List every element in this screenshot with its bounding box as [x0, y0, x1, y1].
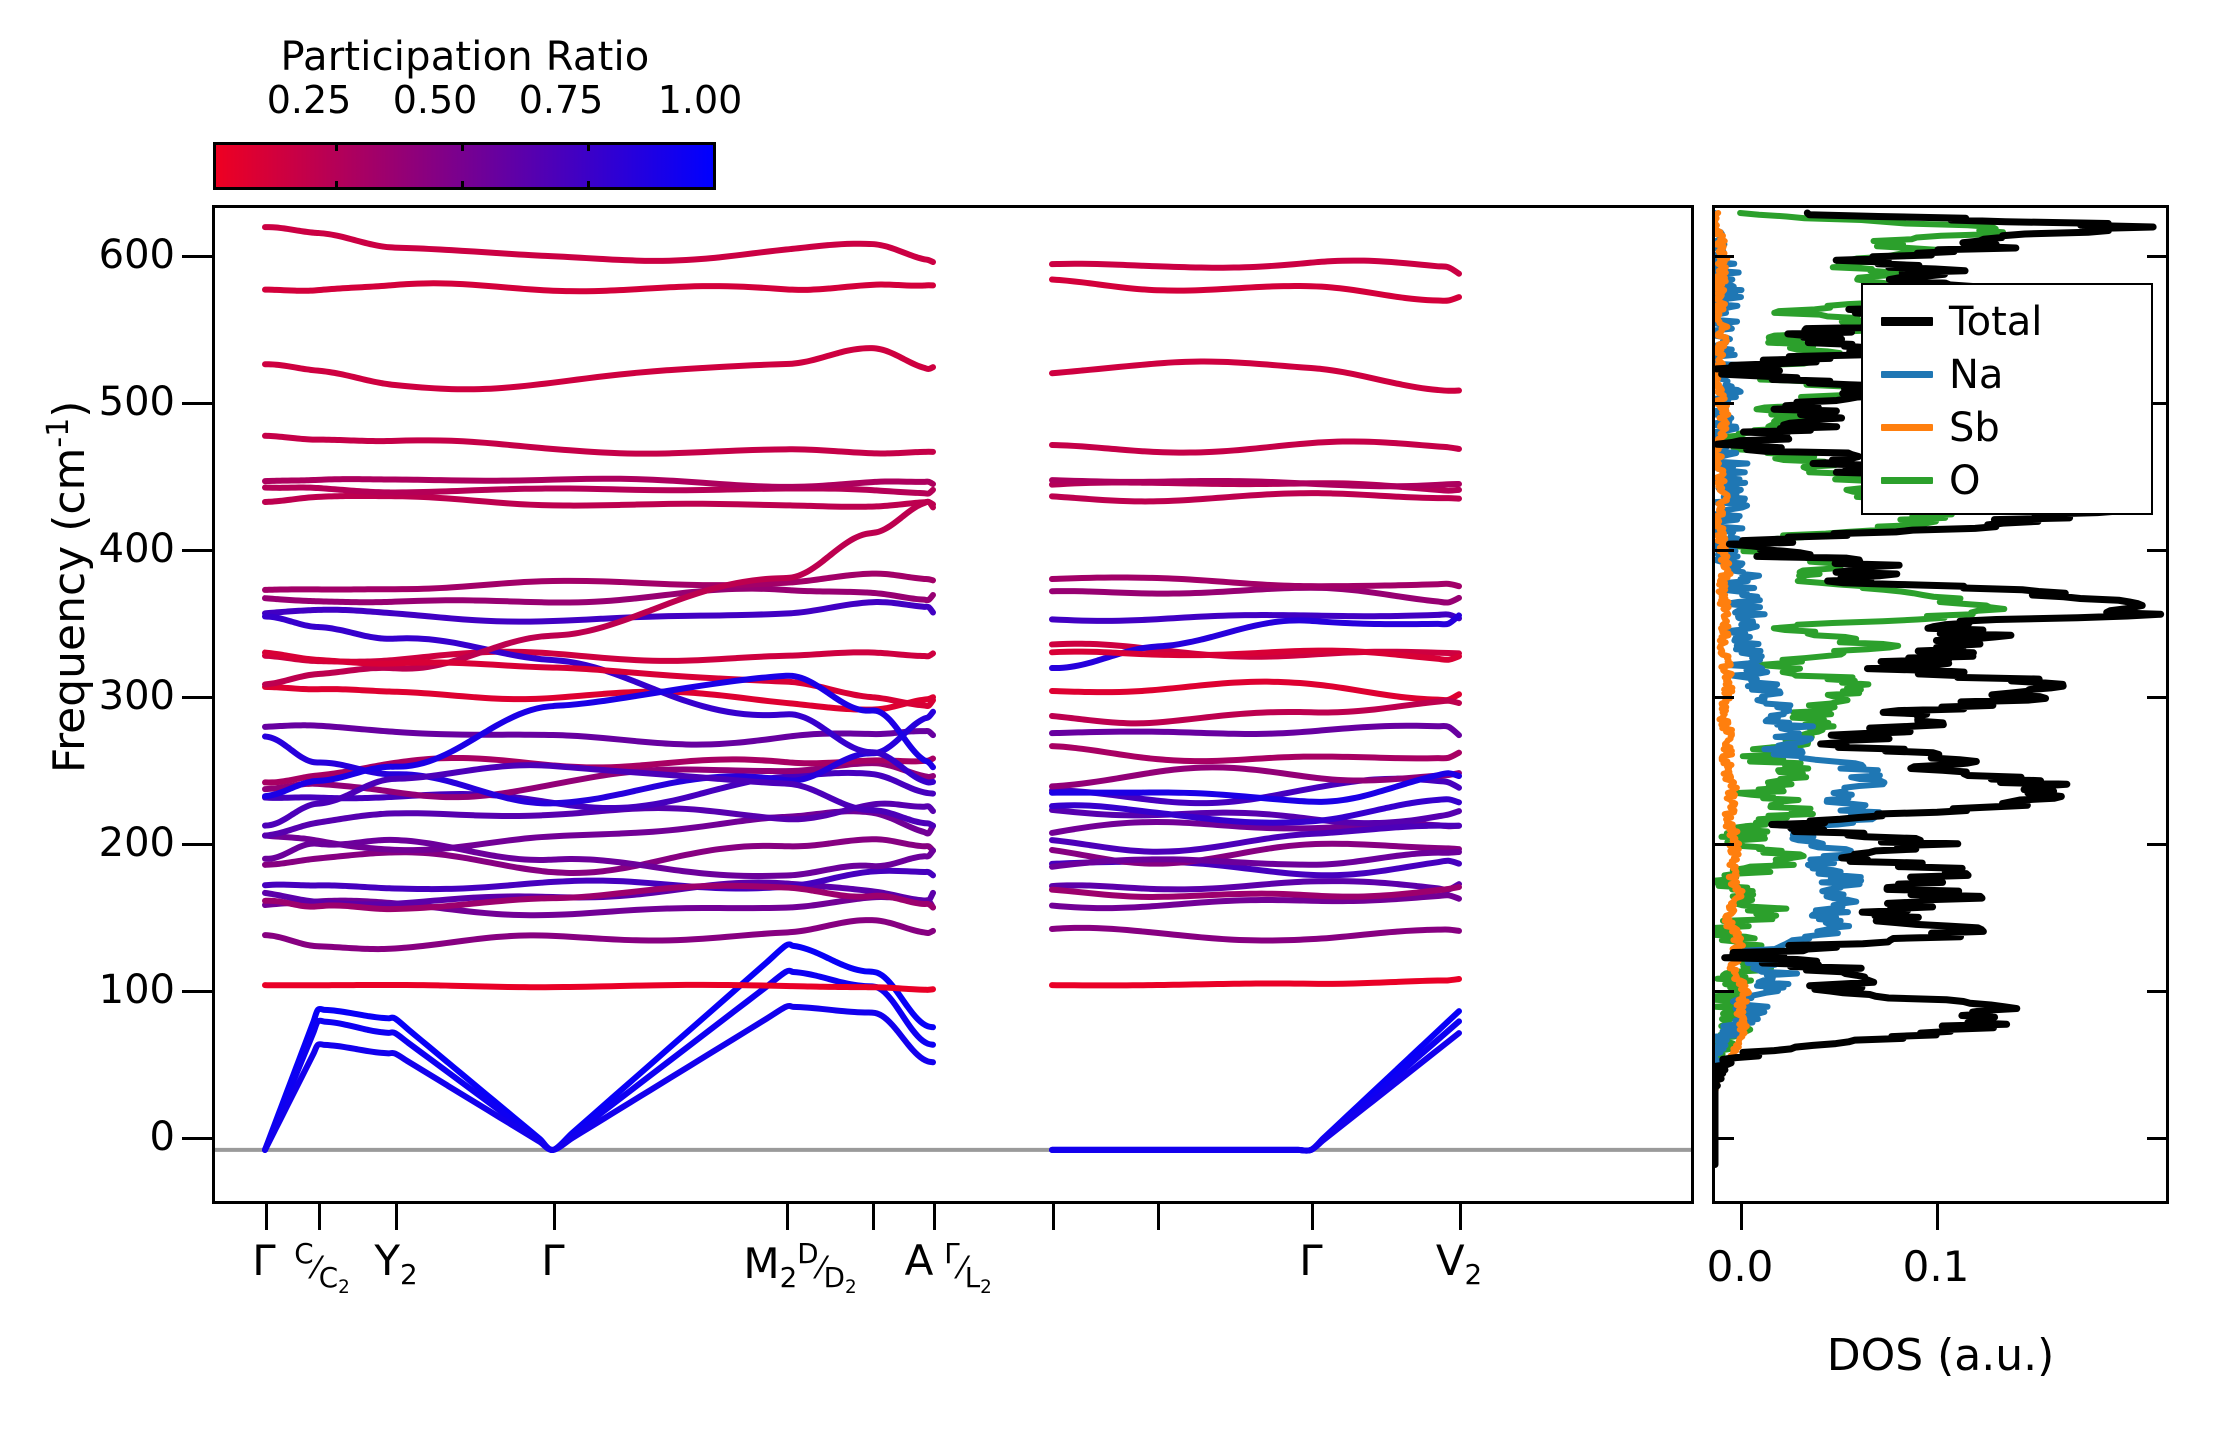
legend-swatch-o [1881, 477, 1933, 484]
legend-label-na: Na [1949, 355, 2003, 395]
dos-ytick-left-300 [1712, 696, 1734, 699]
band-xtick-3 [553, 1204, 556, 1230]
band-branch-optic-1-seg0 [265, 985, 933, 990]
band-branch-optic-23-seg0 [265, 283, 933, 291]
band-xtick-4 [786, 1204, 789, 1230]
dos-xtick-label-0: 0.0 [1707, 1242, 1774, 1291]
band-yaxis-label-exponent: -1 [41, 418, 76, 448]
band-branch-optic-23-seg1 [1052, 280, 1459, 301]
band-xlabel-m2d-over-d2: M2D⁄D2 [743, 1240, 856, 1297]
band-branch-optic-22-seg1 [1052, 362, 1459, 391]
colorbar-tick-label-0: 0.25 [267, 78, 352, 122]
legend-swatch-total [1881, 317, 1933, 326]
band-yaxis-label-paren: ) [44, 401, 95, 418]
band-branch-optic-2-seg1 [1052, 928, 1459, 941]
band-xtick-0 [265, 1204, 268, 1230]
figure-canvas: Participation Ratio 0.25 0.50 0.75 1.00 … [0, 0, 2222, 1455]
band-xlabel-gamma-1: Γ [252, 1240, 275, 1282]
legend-label-total: Total [1949, 302, 2042, 342]
band-xtick-1 [318, 1204, 321, 1230]
dos-legend: Total Na Sb O [1861, 283, 2153, 515]
legend-label-o: O [1949, 461, 1980, 501]
band-branch-optic-20-seg0 [265, 479, 933, 487]
band-xtick-5 [872, 1204, 875, 1230]
band-xtick-9 [1311, 1204, 1314, 1230]
band-xlabel-v2: V2 [1436, 1240, 1482, 1289]
dos-xtick-label-1: 0.1 [1903, 1242, 1970, 1291]
legend-item-total[interactable]: Total [1863, 295, 2151, 348]
colorbar-tick-top-1 [335, 142, 338, 151]
dos-ytick-right-0 [2147, 1137, 2169, 1140]
band-branch-optic-22-seg0 [265, 348, 933, 389]
dos-ytick-left-0 [1712, 1137, 1734, 1140]
band-ytick-label-0: 0 [135, 1114, 175, 1160]
band-branch-optic-24-seg1 [1052, 261, 1459, 274]
band-structure-curves [215, 208, 1691, 1201]
dos-ytick-left-400 [1712, 549, 1734, 552]
band-yaxis-label: Frequency (cm-1) [41, 207, 95, 967]
band-xlabel-gamma-3: Γ [1299, 1240, 1322, 1282]
colorbar-tick-top-2 [461, 142, 464, 151]
band-branch-optic-13-seg1 [1052, 682, 1459, 700]
dos-ytick-left-600 [1712, 255, 1734, 258]
band-branch-optic-21-seg0 [265, 436, 933, 454]
legend-swatch-na [1881, 371, 1933, 378]
colorbar-tick-bot-2 [461, 181, 464, 190]
band-branch-optic-11-seg1 [1052, 746, 1459, 761]
colorbar-tick-label-3: 1.00 [658, 78, 743, 122]
legend-item-sb[interactable]: Sb [1863, 401, 2151, 454]
dos-ytick-right-600 [2147, 255, 2169, 258]
band-branch-optic-4-seg1 [1052, 881, 1459, 890]
band-xtick-8 [1157, 1204, 1160, 1230]
dos-ytick-right-100 [2147, 990, 2169, 993]
band-branch-optic-17-seg0 [265, 574, 933, 590]
colorbar-tick-top-3 [587, 142, 590, 151]
band-xlabel-gamma-2: Γ [541, 1240, 564, 1282]
band-xlabel-gamma-over-l2: Γ⁄L2 [944, 1240, 992, 1297]
dos-ytick-right-400 [2147, 549, 2169, 552]
band-xtick-10 [1459, 1204, 1462, 1230]
band-xtick-2 [395, 1204, 398, 1230]
band-branch-acoustic-3-seg1 [1052, 1033, 1459, 1151]
colorbar-frame [213, 142, 716, 190]
dos-ytick-left-100 [1712, 990, 1734, 993]
dos-xaxis-label: DOS (a.u.) [1712, 1330, 2169, 1381]
colorbar-title: Participation Ratio [0, 34, 930, 80]
band-xlabel-a: A [905, 1240, 934, 1282]
legend-item-o[interactable]: O [1863, 454, 2151, 507]
dos-ytick-right-200 [2147, 843, 2169, 846]
band-branch-optic-15-seg1 [1052, 614, 1459, 621]
band-branch-optic-21-seg1 [1052, 441, 1459, 452]
colorbar-gradient [216, 145, 713, 187]
legend-swatch-sb [1881, 424, 1933, 431]
legend-item-na[interactable]: Na [1863, 348, 2151, 401]
band-ytick-100 [182, 990, 212, 993]
band-branch-optic-16-seg1 [1052, 588, 1459, 603]
band-ytick-500 [182, 402, 212, 405]
band-branch-optic-24-seg0 [265, 227, 933, 262]
colorbar-tick-bot-1 [335, 181, 338, 190]
band-branch-optic-2-seg0 [265, 920, 933, 949]
band-ytick-600 [182, 255, 212, 258]
band-branch-optic-1-seg1 [1052, 979, 1459, 985]
band-branch-optic-18-seg0 [265, 496, 933, 507]
band-ytick-label-100: 100 [60, 967, 175, 1013]
band-branch-acoustic-2-seg1 [1052, 1021, 1459, 1150]
band-ytick-0 [182, 1137, 212, 1140]
band-xlabel-c-over-c2: C⁄C2 [294, 1240, 349, 1297]
band-ytick-400 [182, 549, 212, 552]
band-ytick-200 [182, 843, 212, 846]
colorbar-tick-label-1: 0.50 [393, 78, 478, 122]
legend-label-sb: Sb [1949, 408, 2000, 448]
band-branch-optic-17-seg1 [1052, 577, 1459, 586]
colorbar-tick-label-2: 0.75 [519, 78, 604, 122]
dos-xtick-0 [1740, 1204, 1743, 1230]
band-branch-optic-18-seg1 [1052, 493, 1459, 501]
dos-ytick-left-500 [1712, 402, 1734, 405]
dos-ytick-right-300 [2147, 696, 2169, 699]
band-xtick-7 [1052, 1204, 1055, 1230]
colorbar-tick-bot-3 [587, 181, 590, 190]
band-branch-optic-12-seg1 [1052, 726, 1459, 735]
band-branch-extra-3-seg1 [1052, 701, 1459, 724]
band-ytick-300 [182, 696, 212, 699]
band-xlabel-y2: Y2 [374, 1240, 417, 1289]
colorbar [213, 142, 716, 190]
dos-xtick-1 [1936, 1204, 1939, 1230]
band-structure-plot-area [212, 205, 1694, 1204]
band-branch-optic-19-seg0 [265, 487, 933, 493]
band-yaxis-label-text: Frequency (cm [44, 448, 95, 774]
band-xtick-6 [933, 1204, 936, 1230]
dos-ytick-left-200 [1712, 843, 1734, 846]
